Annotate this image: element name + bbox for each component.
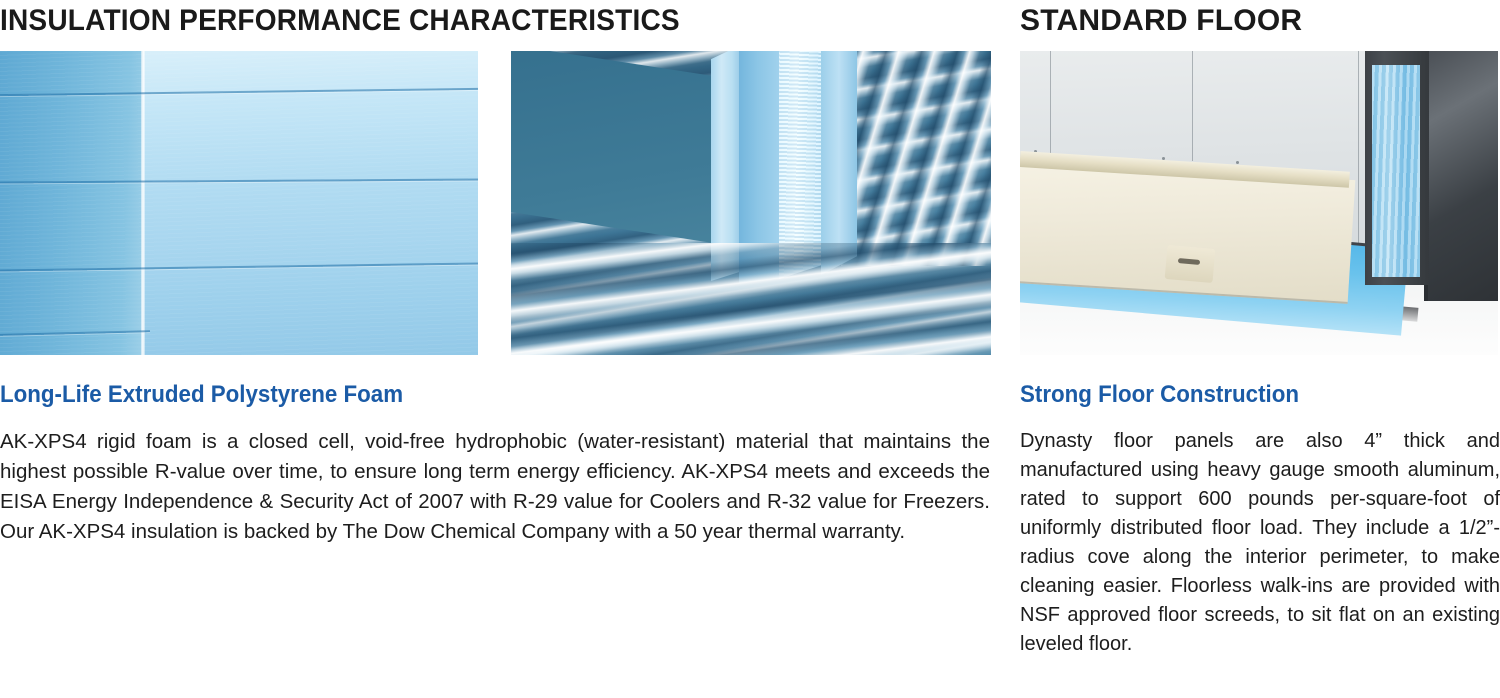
standard-floor-column: STANDARD FLOOR: [1020, 0, 1500, 698]
foam-surface-grain: [0, 51, 478, 355]
wall-panel-seam: [1192, 51, 1193, 161]
standard-floor-section-title: STANDARD FLOOR: [1020, 0, 1500, 38]
xps-foam-on-metal-deck-photo: [511, 51, 991, 355]
insulation-image-row: [0, 51, 991, 355]
deck-ribs-background: [841, 51, 991, 266]
insulation-section-title: INSULATION PERFORMANCE CHARACTERISTICS: [0, 0, 926, 38]
side-wall-foam-core: [1372, 65, 1420, 277]
walk-in-cooler-floor-panel-photo: [1020, 51, 1498, 355]
wall-panel-seam: [1358, 51, 1359, 271]
insulation-and-floor-spec-page: INSULATION PERFORMANCE CHARACTERISTICS: [0, 0, 1500, 698]
insulation-performance-column: INSULATION PERFORMANCE CHARACTERISTICS: [0, 0, 990, 698]
standard-floor-body-text: Dynasty floor panels are also 4” thick a…: [1020, 427, 1500, 659]
floor-photo-base: [1020, 51, 1498, 355]
insulation-subtitle: Long-Life Extruded Polystyrene Foam: [0, 381, 403, 409]
foam-stack-base: [0, 51, 478, 355]
wall-panel-seam: [1050, 51, 1051, 169]
foam-board-edge: [821, 51, 857, 275]
panel-screw: [1236, 161, 1239, 164]
deck-foreground-ribs: [511, 243, 991, 355]
standard-floor-subtitle: Strong Floor Construction: [1020, 381, 1299, 409]
corrugated-deck-base: [511, 51, 991, 355]
far-wall-panel: [1425, 51, 1498, 301]
xps-foam-board-stack-photo: [0, 51, 478, 355]
standard-floor-image-row: [1020, 51, 1500, 355]
insulation-body-text: AK-XPS4 rigid foam is a closed cell, voi…: [0, 427, 990, 547]
